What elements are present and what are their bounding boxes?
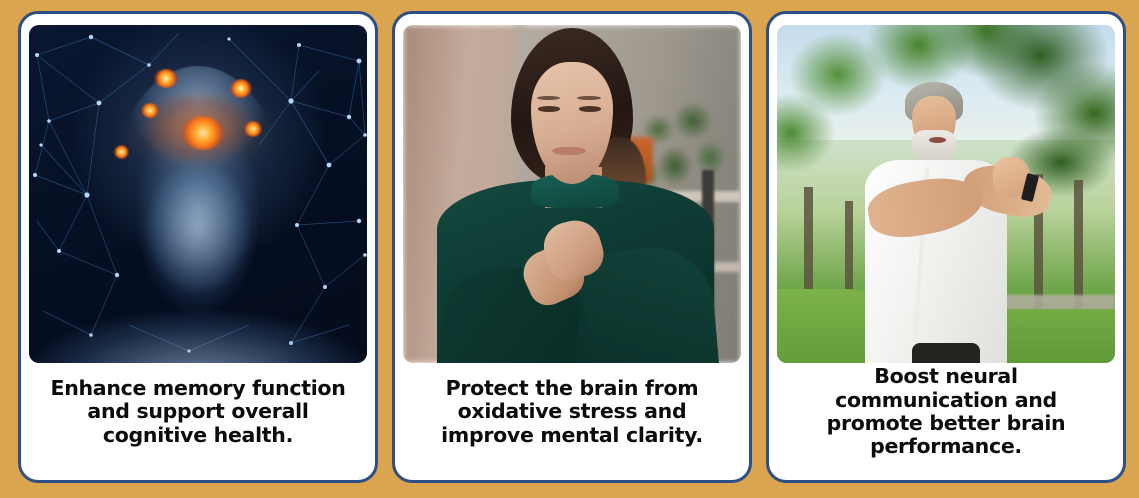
shoulders-shape [29, 289, 367, 363]
benefit-card-memory[interactable]: Enhance memory function and support over… [18, 11, 378, 483]
woman-meditating-image [403, 25, 741, 363]
brain-hotspot [230, 79, 252, 98]
eyebrow-shape [577, 96, 601, 100]
benefit-card-oxidative[interactable]: Protect the brain from oxidative stress … [392, 11, 752, 483]
dark-shorts-shape [912, 343, 980, 363]
brain-hotspot [244, 121, 263, 136]
smiling-mouth-shape [929, 137, 946, 143]
brain-hotspot [181, 116, 225, 150]
closed-eye-shape [538, 106, 560, 111]
closed-eye-shape [579, 106, 601, 111]
brain-hotspot [154, 69, 178, 88]
senior-man-fitness-tracker-image [777, 25, 1115, 363]
brain-hotspot [141, 103, 160, 118]
card-caption: Protect the brain from oxidative stress … [406, 363, 738, 469]
brain-hotspot [114, 145, 129, 159]
benefits-section: Enhance memory function and support over… [0, 0, 1139, 498]
card-caption: Enhance memory function and support over… [32, 363, 364, 469]
brain-neural-network-image [29, 25, 367, 363]
card-caption-text: Protect the brain from oxidative stress … [412, 377, 732, 447]
card-caption-text: Boost neural communication and promote b… [786, 365, 1106, 458]
card-caption-text: Enhance memory function and support over… [38, 377, 358, 447]
card-caption: Boost neural communication and promote b… [780, 363, 1112, 469]
benefit-card-neural[interactable]: Boost neural communication and promote b… [766, 11, 1126, 483]
eyebrow-shape [537, 96, 561, 100]
